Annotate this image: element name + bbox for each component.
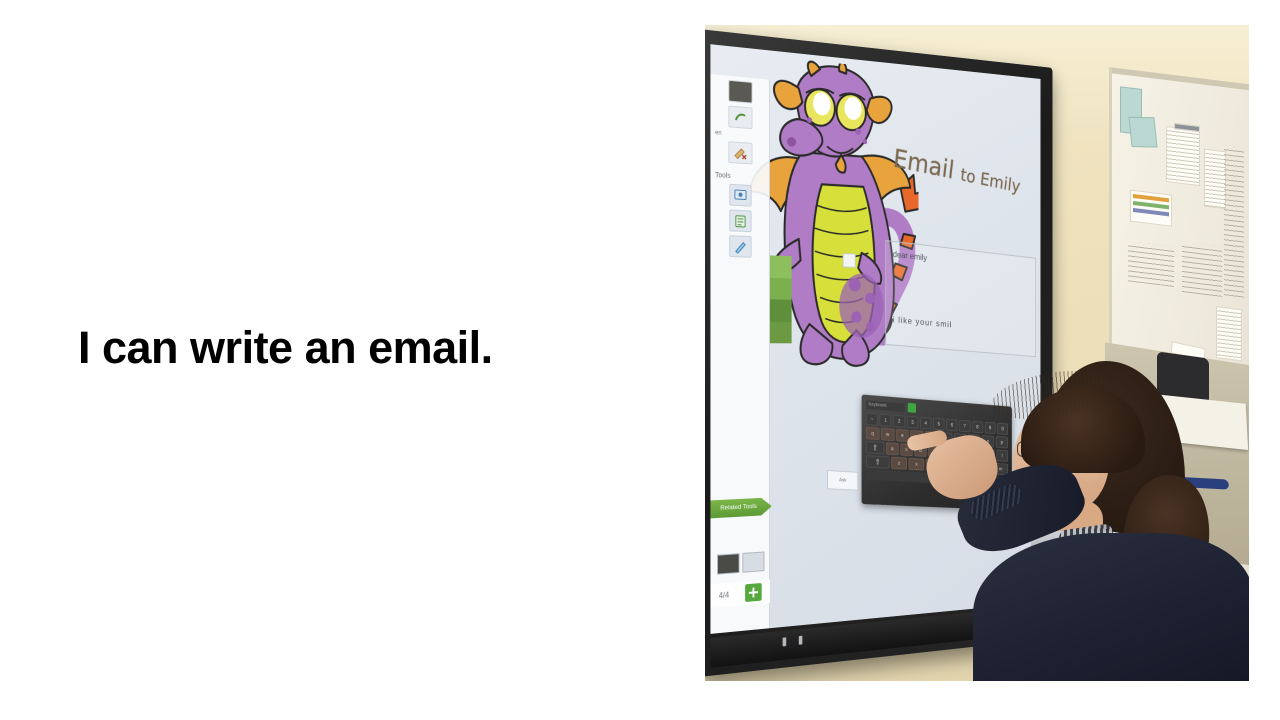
key-x[interactable]: x (909, 458, 925, 471)
key-a[interactable]: a (886, 442, 899, 455)
palette-swatch[interactable] (770, 321, 792, 343)
screen-capture-icon[interactable] (729, 184, 751, 207)
key-6[interactable]: 6 (946, 419, 957, 432)
handwritten-list (1224, 145, 1244, 297)
page-title: I can write an email. (78, 323, 638, 373)
palette-swatch[interactable] (770, 299, 792, 321)
title-small: to Emily (959, 165, 1021, 197)
pinned-chart (1204, 149, 1226, 210)
page-navigation-bar[interactable]: 4/4 (710, 579, 769, 608)
palette-swatch[interactable] (770, 277, 792, 299)
pinned-colour-chart (1130, 190, 1172, 227)
page-icon[interactable] (729, 209, 751, 232)
student (973, 355, 1249, 681)
page-count-label: 4/4 (719, 590, 729, 600)
clear-ink-glyph (733, 145, 748, 160)
key-q[interactable]: q (866, 427, 879, 440)
app-sidebar[interactable]: en Tools (710, 74, 769, 634)
slide-canvas: I can write an email. (0, 0, 1280, 720)
key-z[interactable]: z (891, 457, 907, 470)
key-3[interactable]: 3 (907, 416, 919, 429)
keyboard-title-label: Keyboard (866, 400, 905, 411)
key-2[interactable]: 2 (893, 415, 905, 428)
ask-button[interactable]: Ask (827, 470, 858, 491)
shape-icon[interactable] (728, 105, 752, 129)
highlighter-icon[interactable] (729, 235, 751, 258)
email-greeting: dear emily (893, 249, 927, 262)
classroom-photo: Email to Emily dear emily i like your sm… (705, 25, 1249, 681)
key-1[interactable]: 1 (880, 414, 892, 427)
chart-bar (1133, 208, 1169, 216)
status-indicator (799, 636, 803, 645)
shape-glyph (733, 111, 746, 124)
school-jumper (973, 533, 1249, 681)
handwritten-notes (1128, 241, 1174, 287)
keyboard-status-icon[interactable] (908, 403, 916, 413)
page-thumbnails[interactable] (710, 548, 769, 578)
pinned-chart (1216, 306, 1242, 361)
eraser-icon[interactable] (728, 80, 752, 104)
key-7[interactable]: 7 (959, 420, 970, 433)
page-thumb-1[interactable] (717, 553, 740, 574)
shift-left-key[interactable]: ⇧ (866, 441, 884, 454)
colour-palette[interactable] (770, 255, 792, 343)
related-tools-button[interactable]: Related Tools (710, 497, 771, 518)
email-body: i like your smil (893, 315, 952, 330)
key-5[interactable]: 5 (933, 418, 944, 431)
shift-right-key[interactable]: ⇧ (866, 455, 889, 469)
add-page-button[interactable] (745, 583, 762, 602)
page-thumb-2[interactable] (742, 552, 764, 573)
page-glyph (734, 214, 745, 227)
object-handle-icon[interactable] (843, 253, 856, 268)
sidebar-tools-heading: Tools (710, 172, 769, 182)
key-tilde[interactable]: ~ (866, 413, 878, 426)
key-4[interactable]: 4 (920, 417, 932, 430)
email-textbox[interactable]: dear emily i like your smil (885, 240, 1036, 357)
screen-capture-glyph (733, 189, 746, 202)
clear-ink-icon[interactable] (728, 141, 752, 164)
highlighter-glyph (733, 240, 746, 253)
pinned-chart (1166, 126, 1200, 186)
key-w[interactable]: w (881, 428, 894, 441)
palette-swatch[interactable] (770, 255, 792, 278)
handwritten-notes (1182, 242, 1222, 299)
sidebar-pen-label: en (710, 130, 769, 140)
power-indicator (783, 637, 787, 646)
pinned-note (1129, 117, 1158, 148)
